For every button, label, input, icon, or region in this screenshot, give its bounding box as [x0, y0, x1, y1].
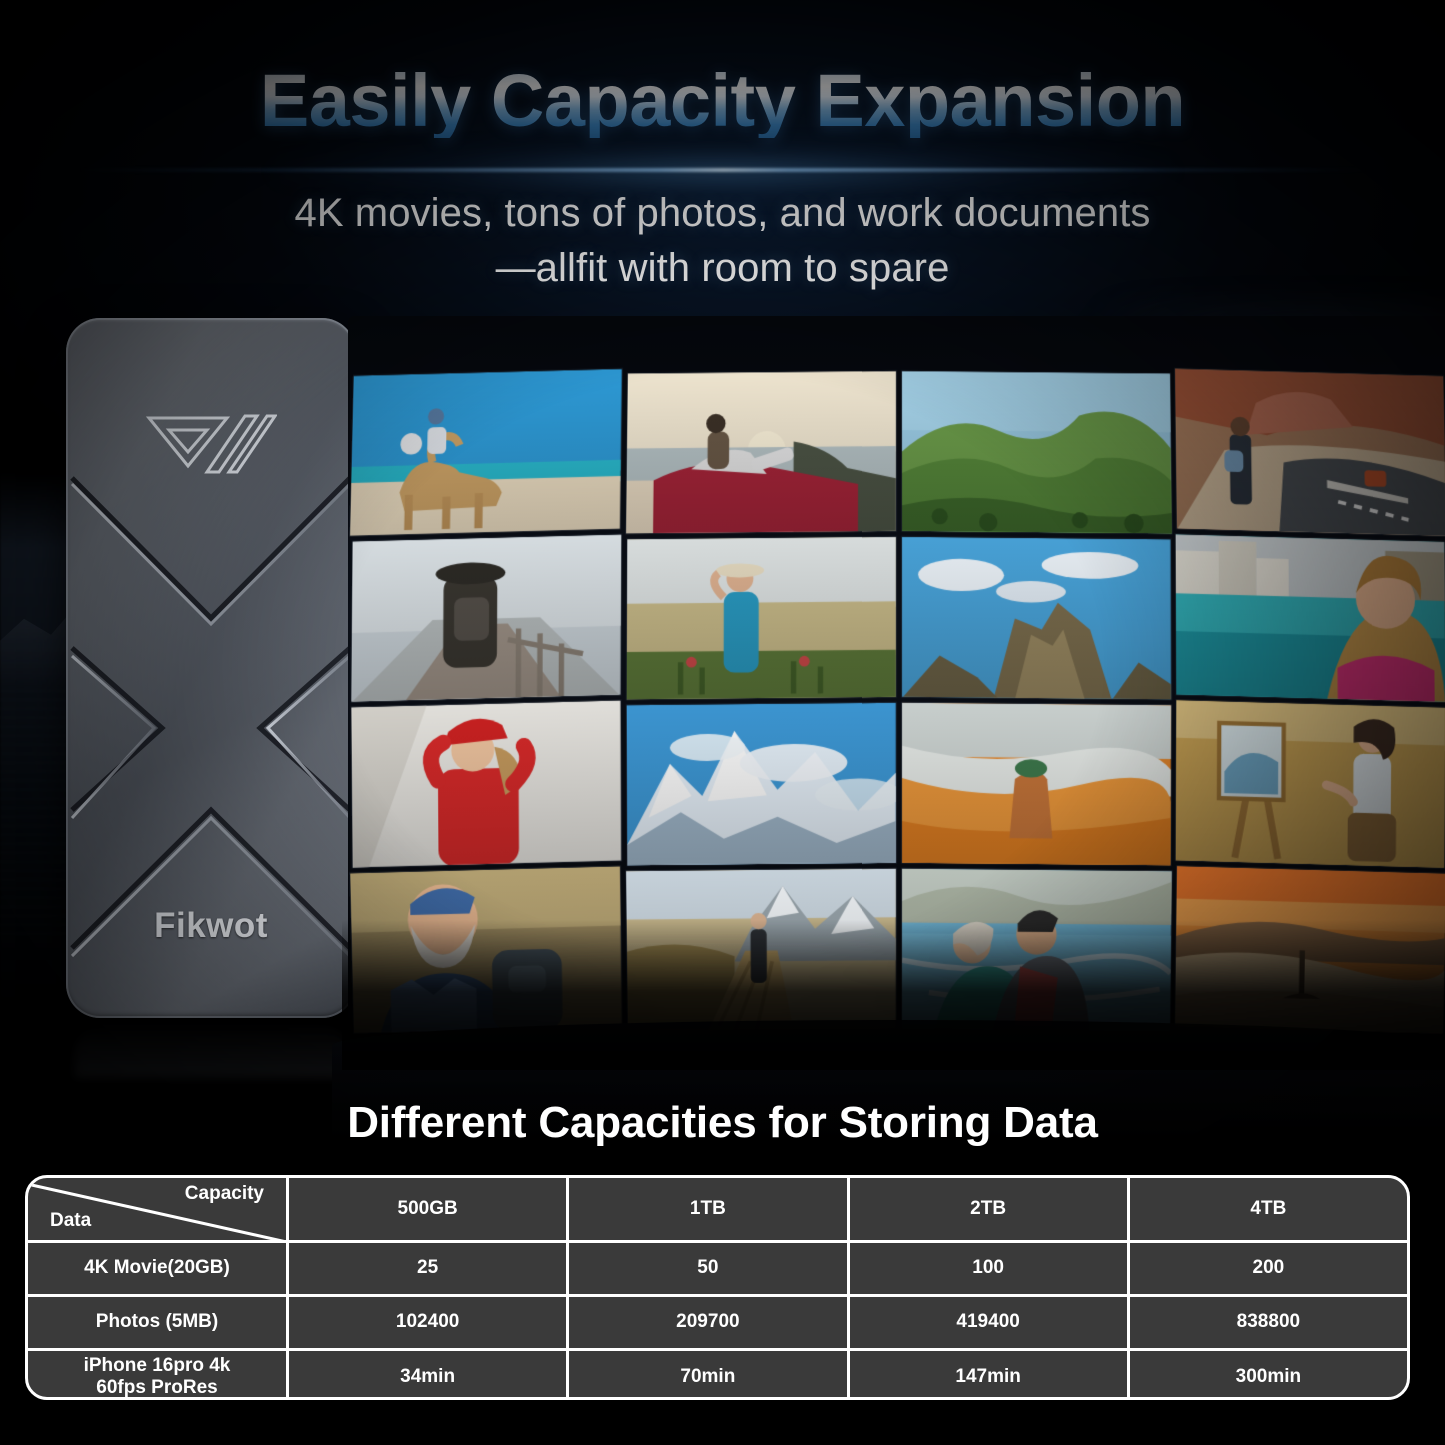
row-label-photos: Photos (5MB) [28, 1297, 286, 1348]
table-header-row: Capacity Data 500GB 1TB 2TB 4TB [28, 1178, 1407, 1240]
fikwot-logo-mark-icon [145, 410, 277, 474]
photo-couple-sitting-by-lake [901, 869, 1171, 1031]
cell-iphone-1tb: 70min [566, 1351, 846, 1400]
corner-header-capacity: Capacity [185, 1183, 264, 1205]
photo-couple-baby-canyon-road [1175, 369, 1445, 536]
light-flare-line [78, 168, 1368, 172]
photo-woman-red-outfit-red-hat [351, 700, 621, 867]
cell-4k-movie-1tb: 50 [566, 1243, 846, 1294]
photo-woman-painting-easel-field [1176, 700, 1445, 867]
cell-photos-2tb: 419400 [847, 1297, 1127, 1348]
photo-green-rolling-hills [901, 371, 1171, 533]
ssd-product-image: Fikwot [66, 318, 356, 1018]
cell-photos-4tb: 838800 [1127, 1297, 1407, 1348]
subheadline-line-2: —allfit with room to spare [0, 241, 1445, 296]
cell-4k-movie-500gb: 25 [286, 1243, 566, 1294]
table-row: iPhone 16pro 4k 60fps ProRes 34min 70min… [28, 1348, 1407, 1400]
ssd-reflection [74, 1020, 348, 1078]
photo-camel-ride-beach [350, 369, 622, 536]
capacity-section-title: Different Capacities for Storing Data [0, 1098, 1445, 1148]
page-subheadline: 4K movies, tons of photos, and work docu… [0, 186, 1445, 296]
photo-rocky-outcrop-blue-sky [901, 537, 1170, 699]
capacity-table: Capacity Data 500GB 1TB 2TB 4TB 4K Movie… [25, 1175, 1410, 1400]
photo-smiling-woman-coastal-town [1176, 534, 1445, 701]
cell-photos-1tb: 209700 [566, 1297, 846, 1348]
photo-hiker-boardwalk-snowy-peaks [626, 869, 896, 1031]
cell-iphone-500gb: 34min [286, 1351, 566, 1400]
column-header-2tb: 2TB [847, 1178, 1127, 1240]
page-headline: Easily Capacity Expansion [0, 64, 1445, 138]
row-label-iphone-prores: iPhone 16pro 4k 60fps ProRes [28, 1351, 286, 1400]
photo-woman-blue-dress-wheat-field [626, 537, 895, 699]
cell-4k-movie-4tb: 200 [1127, 1243, 1407, 1294]
cell-iphone-2tb: 147min [847, 1351, 1127, 1400]
photo-wall-row [350, 870, 1445, 1030]
column-header-4tb: 4TB [1127, 1178, 1407, 1240]
table-row: 4K Movie(20GB) 25 50 100 200 [28, 1240, 1407, 1294]
brand-wordmark: Fikwot [154, 906, 268, 946]
photo-child-sitting-orange-beach [901, 703, 1170, 865]
cell-iphone-4tb: 300min [1127, 1351, 1407, 1400]
column-header-1tb: 1TB [566, 1178, 846, 1240]
photo-wall-row [351, 704, 1445, 864]
cell-photos-500gb: 102400 [286, 1297, 566, 1348]
subheadline-line-1: 4K movies, tons of photos, and work docu… [294, 191, 1150, 235]
cell-4k-movie-2tb: 100 [847, 1243, 1127, 1294]
photo-convertible-car-sunset-coast [626, 371, 896, 533]
photo-wall-row [351, 538, 1445, 698]
photo-wall-row [350, 372, 1445, 532]
column-header-500gb: 500GB [286, 1178, 566, 1240]
table-corner-header: Capacity Data [28, 1178, 286, 1240]
photo-hiker-hat-wooden-bridge [351, 535, 621, 702]
photo-bearded-man-backpack-bandana [350, 866, 621, 1033]
marketing-page: Easily Capacity Expansion 4K movies, ton… [0, 0, 1445, 1445]
ssd-body: Fikwot [66, 318, 356, 1018]
photo-video-wall [352, 330, 1445, 1030]
photo-snow-capped-mountain-clouds [626, 703, 895, 865]
corner-header-data: Data [50, 1210, 91, 1232]
photo-sunset-dunes-horizon [1175, 866, 1445, 1033]
row-label-4k-movie: 4K Movie(20GB) [28, 1243, 286, 1294]
table-row: Photos (5MB) 102400 209700 419400 838800 [28, 1294, 1407, 1348]
